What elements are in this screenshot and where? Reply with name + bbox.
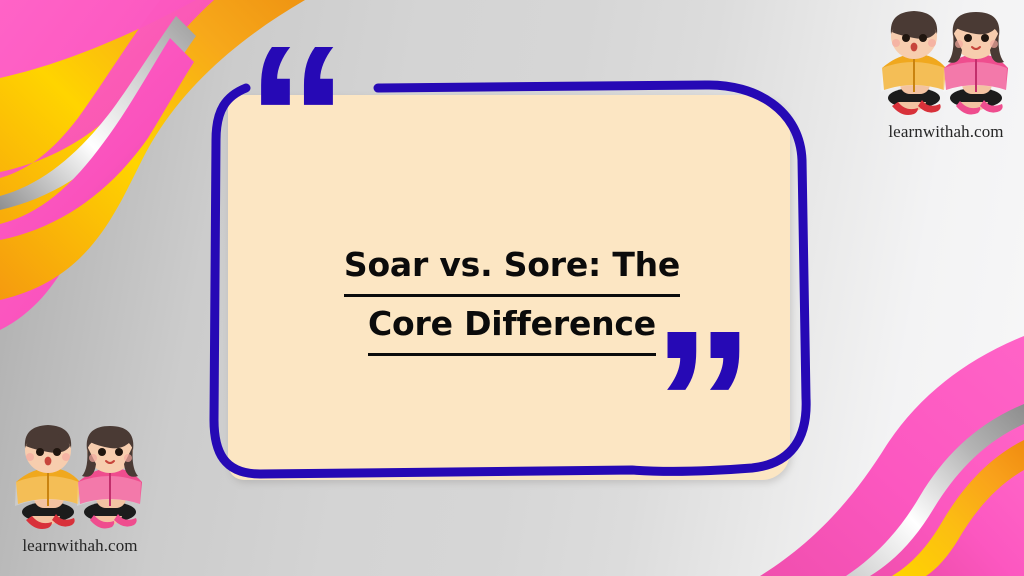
logo-bottom-left: learnwithah.com — [6, 420, 154, 570]
site-name-top-right: learnwithah.com — [872, 122, 1020, 142]
title-line-1: Soar vs. Sore: The — [258, 238, 766, 297]
reading-kids-icon — [872, 6, 1020, 124]
slide-canvas: “ ” Soar vs. Sore: The Core Difference — [0, 0, 1024, 576]
site-name-bottom-left: learnwithah.com — [6, 536, 154, 556]
reading-kids-icon — [6, 420, 154, 538]
logo-top-right: learnwithah.com — [872, 6, 1020, 156]
quote-open-icon: “ — [246, 15, 347, 220]
title-line-2: Core Difference — [258, 297, 766, 356]
page-title: Soar vs. Sore: The Core Difference — [258, 238, 766, 356]
